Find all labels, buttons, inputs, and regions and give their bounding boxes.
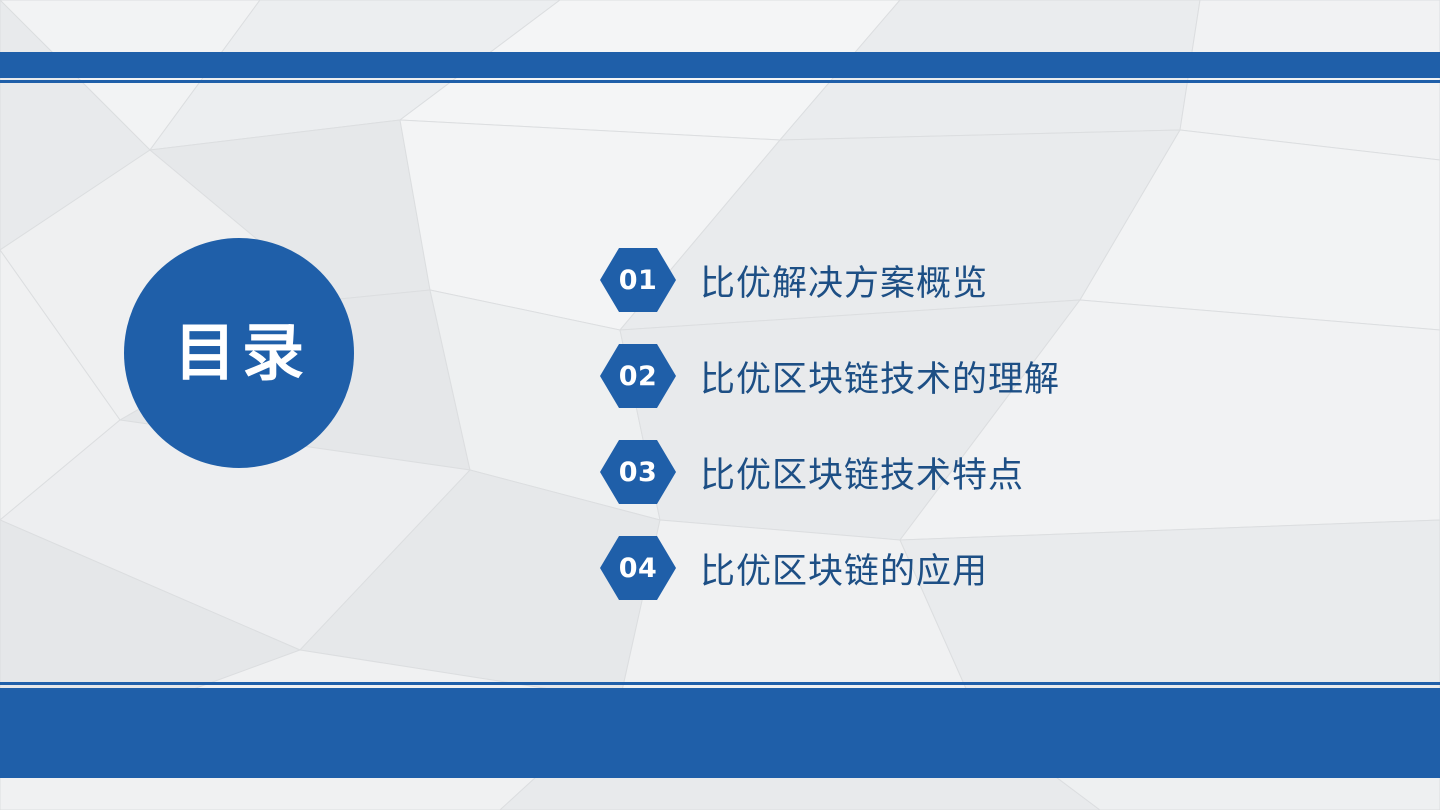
toc-item-number: 02 [619,361,658,392]
page-title: 目录 [168,322,310,384]
top-accent-line [0,80,1440,83]
toc-item-number: 03 [619,457,658,488]
toc-item-label: 比优区块链技术的理解 [700,351,1060,402]
toc-item-label: 比优解决方案概览 [700,255,988,306]
hexagon-badge-icon: 03 [600,438,676,506]
toc-item-label: 比优区块链的应用 [700,543,988,594]
title-circle: 目录 [124,238,354,468]
toc-item-number: 01 [619,265,658,296]
toc-item-03[interactable]: 03 比优区块链技术特点 [600,424,1300,520]
toc-item-01[interactable]: 01 比优解决方案概览 [600,232,1300,328]
toc-item-04[interactable]: 04 比优区块链的应用 [600,520,1300,616]
top-accent-band [0,52,1440,78]
toc-item-number: 04 [619,553,658,584]
hexagon-badge-icon: 04 [600,534,676,602]
bottom-accent-band [0,688,1440,778]
toc-item-label: 比优区块链技术特点 [700,447,1024,498]
hexagon-badge-icon: 02 [600,342,676,410]
toc-item-02[interactable]: 02 比优区块链技术的理解 [600,328,1300,424]
bottom-accent-line [0,682,1440,685]
slide: 目录 01 比优解决方案概览 02 比优区块链技术的理解 03 [0,0,1440,810]
hexagon-badge-icon: 01 [600,246,676,314]
toc-list: 01 比优解决方案概览 02 比优区块链技术的理解 03 比优区块链技术特点 [600,232,1300,616]
